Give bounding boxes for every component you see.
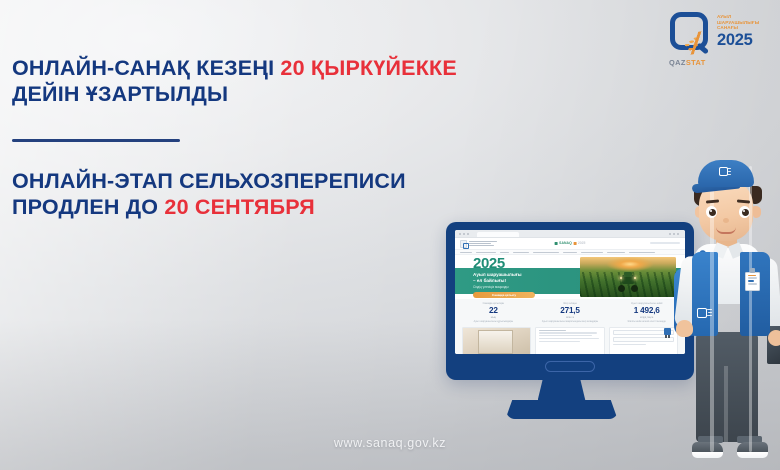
- site-title-line-3: [469, 245, 494, 246]
- card-photo[interactable]: [462, 327, 531, 354]
- breadcrumb-item-4[interactable]: [513, 252, 529, 253]
- breadcrumb-item-8[interactable]: [607, 252, 625, 253]
- monitor-body: SANAQ 2025: [446, 222, 694, 380]
- mascot-eye-left: [706, 206, 717, 218]
- lang-label-kaz: SANAQ: [559, 241, 572, 245]
- tractor-wheel-left: [618, 285, 625, 292]
- mascot-vest-logo-icon: [697, 308, 712, 320]
- wordmark-qaz: QAZ: [669, 58, 686, 67]
- mascot-hand-left: [676, 320, 693, 337]
- headline-russian-line-1: ОНЛАЙН-ЭТАП СЕЛЬХОЗПЕРЕПИСИ: [12, 168, 532, 194]
- lang-marker-orange: [573, 242, 576, 245]
- mascot-ear-right: [753, 206, 761, 218]
- mascot-nose: [723, 218, 729, 223]
- browser-dot-2: [463, 233, 465, 235]
- headline-russian-line-2: ПРОДЛЕН ДО 20 СЕНТЯБРЯ: [12, 194, 532, 220]
- vest-logo-line-2: [708, 312, 712, 313]
- mascot-eye-right: [739, 206, 750, 218]
- logo-kk-line-3: САНАҒЫ: [717, 25, 759, 31]
- mascot-pupil-left: [709, 209, 716, 216]
- hero-year: 2025: [473, 256, 505, 271]
- headline-kazakh-line-2: ДЕЙІН ҰЗАРТЫЛДЫ: [12, 81, 572, 107]
- card-heading-line: [539, 330, 566, 331]
- mascot-badge-clip: [750, 268, 755, 273]
- badge-line: [748, 283, 757, 284]
- card-body-line: [539, 338, 598, 339]
- breadcrumb-item-3[interactable]: [500, 252, 509, 253]
- headline-kazakh-line-1: ОНЛАЙН-САНАҚ КЕЗЕҢІ 20 ҚЫРКҮЙЕККЕ: [12, 55, 572, 81]
- headline-russian-accent-date: 20 СЕНТЯБРЯ: [164, 195, 315, 219]
- stat-caption: Санаққа қатысқан: [455, 302, 532, 305]
- hero-slogan-line-2: – ел байлығы!: [473, 278, 559, 284]
- site-cards-row: [455, 327, 685, 354]
- vest-logo-line-1: [707, 309, 712, 310]
- hero-cta-label: Санаққа қатысу: [492, 293, 516, 297]
- cap-logo-line-1: [727, 168, 731, 169]
- monitor-screen: SANAQ 2025: [455, 230, 685, 354]
- headline-russian-main: ПРОДЛЕН ДО: [12, 195, 164, 219]
- mascot-cap-logo-icon: [719, 167, 731, 177]
- poster-canvas: ОНЛАЙН-САНАҚ КЕЗЕҢІ 20 ҚЫРКҮЙЕККЕ ДЕЙІН …: [0, 0, 780, 470]
- census-taker-mascot: [672, 160, 780, 470]
- mascot-vest-left: [692, 252, 718, 336]
- stat-card: Жер алаңы 271,5 млн га Ауыл шаруашылығы …: [532, 302, 609, 327]
- badge-line-accent: [748, 275, 756, 276]
- mascot-vest-right: [740, 252, 770, 336]
- monitor-base: [506, 400, 618, 419]
- site-stats-row: Санаққа қатысқан 22 мың Ауыл шаруашылығы…: [455, 299, 685, 327]
- site-hero: 2025 Ауыл шаруашылығы – ел байлығы! Сізд…: [455, 255, 685, 299]
- monitor-neck: [538, 377, 586, 401]
- browser-chrome: [455, 230, 685, 238]
- badge-line-blue: [748, 280, 754, 281]
- breadcrumb-item-2[interactable]: [476, 252, 496, 253]
- wordmark-stat: STAT: [686, 58, 706, 67]
- breadcrumb-item-7[interactable]: [581, 252, 603, 253]
- site-language-switcher[interactable]: SANAQ 2025: [555, 241, 586, 245]
- mini-mascot-leg-left: [665, 335, 667, 339]
- card-body-line: [539, 335, 592, 336]
- stat-unit: мың: [455, 316, 532, 319]
- mascot-id-badge: [745, 272, 760, 291]
- site-logo-text: [469, 241, 497, 248]
- hero-subtitle: Сіздің үлесіңіз маңызды: [473, 285, 509, 289]
- tractor-icon: [617, 272, 639, 292]
- cap-logo-line-3: [727, 174, 731, 175]
- breadcrumb-item-1[interactable]: [460, 252, 472, 253]
- monitor-bezel-notch: [545, 361, 595, 372]
- breadcrumb-item-5[interactable]: [533, 252, 559, 253]
- site-title-line-1: [469, 241, 497, 242]
- mascot-hand-right: [768, 330, 780, 346]
- stat-value: 271,5: [532, 306, 609, 315]
- stat-caption: Жер алаңы: [532, 302, 609, 305]
- wheat-ear-icon: [680, 30, 712, 55]
- headline-kazakh-accent-date: 20 ҚЫРКҮЙЕККЕ: [280, 56, 456, 80]
- stat-description: Ауыл шаруашылығы құрылымдары: [455, 320, 532, 323]
- card-news-list[interactable]: [535, 327, 604, 354]
- headline-kazakh-main: ОНЛАЙН-САНАҚ КЕЗЕҢІ: [12, 56, 280, 80]
- headline-russian: ОНЛАЙН-ЭТАП СЕЛЬХОЗПЕРЕПИСИ ПРОДЛЕН ДО 2…: [12, 168, 532, 220]
- browser-dot-3: [467, 233, 469, 235]
- vest-logo-line-3: [707, 315, 712, 316]
- stat-unit: млн га: [532, 316, 609, 319]
- badge-line: [748, 277, 757, 278]
- mascot-leg-separation: [724, 366, 728, 442]
- stat-value: 22: [455, 306, 532, 315]
- browser-dot-1: [459, 233, 461, 235]
- tractor-headlight-left: [620, 277, 622, 279]
- card-body-line: [539, 332, 596, 333]
- monitor-illustration: SANAQ 2025: [421, 222, 702, 422]
- logo-year: 2025: [717, 32, 759, 49]
- card-body-line: [613, 344, 647, 345]
- stat-description: Ауыл шаруашылығы мақсатындағы жер алаңда…: [532, 320, 609, 323]
- qazstat-census-logo: QAZSTAT АУЫЛ ШАРУАШЫЛЫҒЫ САНАҒЫ 2025: [668, 10, 772, 72]
- qazstat-wordmark: QAZSTAT: [669, 58, 706, 67]
- breadcrumb-item-9[interactable]: [629, 252, 655, 253]
- mini-mascot-leg-right: [668, 335, 670, 339]
- card-body-line: [539, 341, 579, 342]
- lang-marker-green: [555, 242, 558, 245]
- site-logo-icon: [460, 240, 467, 248]
- hero-tractor-photo: [580, 257, 676, 297]
- hero-cta-button[interactable]: Санаққа қатысу: [473, 292, 535, 298]
- site-title-line-2: [469, 243, 491, 244]
- hero-slogan: Ауыл шаруашылығы – ел байлығы!: [473, 272, 559, 284]
- browser-tab[interactable]: [477, 232, 519, 237]
- tractor-wheel-right: [631, 285, 638, 292]
- logo-text-block: АУЫЛ ШАРУАШЫЛЫҒЫ САНАҒЫ 2025: [714, 10, 759, 49]
- site-header: SANAQ 2025: [455, 238, 685, 250]
- browser-menu-dot-3: [669, 233, 671, 235]
- mascot-pupil-right: [742, 209, 749, 216]
- breadcrumb-item-6[interactable]: [563, 252, 577, 253]
- stat-card: Санаққа қатысқан 22 мың Ауыл шаруашылығы…: [455, 302, 532, 327]
- section-divider: [12, 139, 180, 142]
- headline-kazakh: ОНЛАЙН-САНАҚ КЕЗЕҢІ 20 ҚЫРКҮЙЕККЕ ДЕЙІН …: [12, 55, 572, 107]
- tractor-headlight-right: [634, 277, 636, 279]
- website-url[interactable]: www.sanaq.gov.kz: [0, 436, 780, 450]
- logo-mark: QAZSTAT: [668, 10, 714, 60]
- lang-label-alt: 2025: [578, 241, 586, 245]
- cap-logo-line-2: [728, 171, 731, 172]
- tractor-cab: [624, 272, 632, 277]
- card-form[interactable]: [609, 327, 678, 354]
